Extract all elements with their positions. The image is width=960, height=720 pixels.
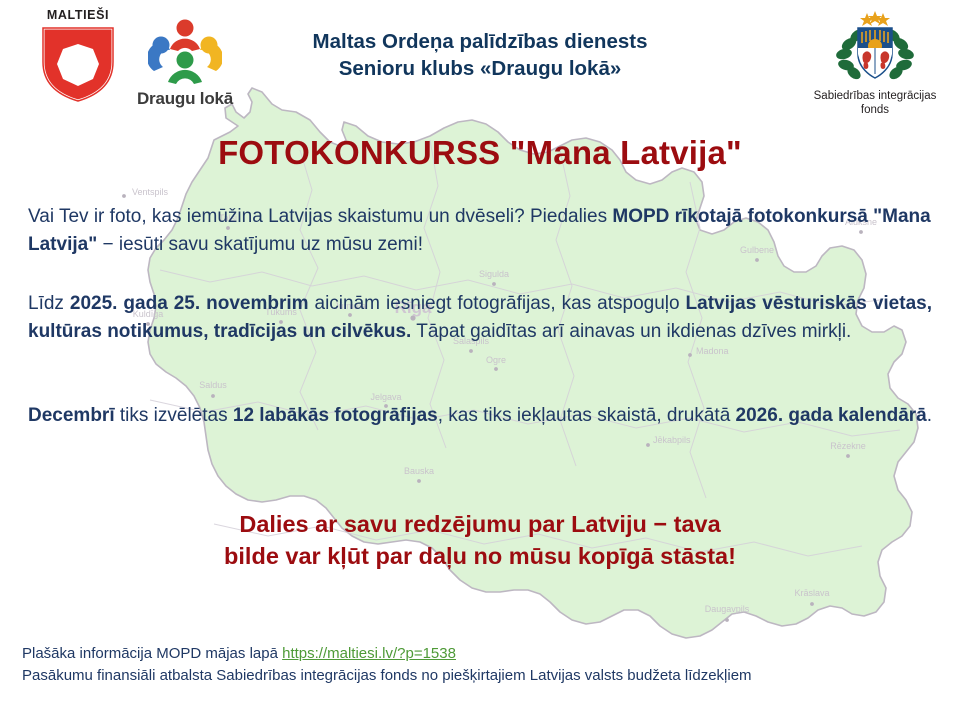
organization-title-line2: Senioru klubs «Draugu lokā» bbox=[250, 55, 710, 82]
maltiesi-wordmark: MALTIEŠI bbox=[26, 8, 130, 22]
draugu-loka-logo: Draugu lokā bbox=[126, 18, 244, 118]
maltese-shield-icon bbox=[39, 24, 117, 104]
draugu-loka-wordmark: Draugu lokā bbox=[126, 89, 244, 108]
friends-circle-icon bbox=[148, 18, 222, 88]
call-to-action-line1: Dalies ar savu redzējumu par Latviju − t… bbox=[0, 508, 960, 540]
paragraph-deadline-seg1: Līdz bbox=[28, 293, 70, 314]
sif-wordmark: Sabiedrības integrācijas fonds bbox=[800, 90, 950, 117]
paragraph-deadline: Līdz 2025. gada 25. novembrim aicinām ie… bbox=[28, 290, 932, 346]
paragraph-deadline-seg2: aicinām iesniegt fotogrāfijas, kas atspo… bbox=[309, 293, 686, 314]
footer-info-prefix: Plašāka informācija MOPD mājas lapā bbox=[22, 645, 282, 662]
footer-line-info: Plašāka informācija MOPD mājas lapā http… bbox=[22, 643, 942, 665]
paragraph-deadline-seg3: Tāpat gaidītas arī ainavas un ikdienas d… bbox=[411, 321, 851, 342]
paragraph-calendar-bold2: 12 labākās fotogrāfijas bbox=[233, 405, 438, 426]
latvia-coat-of-arms-icon bbox=[827, 10, 923, 88]
organization-title: Maltas Ordeņa palīdzības dienests Senior… bbox=[250, 28, 710, 82]
paragraph-deadline-bold1: 2025. gada 25. novembrim bbox=[70, 293, 309, 314]
poster-header: MALTIEŠI bbox=[0, 0, 960, 132]
call-to-action: Dalies ar savu redzējumu par Latviju − t… bbox=[0, 508, 960, 572]
poster-footer: Plašāka informācija MOPD mājas lapā http… bbox=[22, 643, 942, 687]
paragraph-intro-seg2: − iesūti savu skatījumu uz mūsu zemi! bbox=[97, 234, 423, 255]
call-to-action-line2: bilde var kļūt par daļu no mūsu kopīgā s… bbox=[0, 540, 960, 572]
paragraph-intro-seg1: Vai Tev ir foto, kas iemūžina Latvijas s… bbox=[28, 206, 612, 227]
paragraph-calendar-seg1: tiks izvēlētas bbox=[115, 405, 233, 426]
mopd-website-link[interactable]: https://maltiesi.lv/?p=1538 bbox=[282, 645, 456, 662]
poster-content: MALTIEŠI bbox=[0, 0, 960, 720]
paragraph-intro: Vai Tev ir foto, kas iemūžina Latvijas s… bbox=[28, 203, 932, 259]
paragraph-calendar: Decembrī tiks izvēlētas 12 labākās fotog… bbox=[28, 402, 932, 430]
paragraph-calendar-bold1: Decembrī bbox=[28, 405, 115, 426]
poster-canvas: VentspilsTalsiKuldīgaSaldusTukumsJūrmala… bbox=[0, 0, 960, 720]
organization-title-line1: Maltas Ordeņa palīdzības dienests bbox=[250, 28, 710, 55]
maltiesi-logo: MALTIEŠI bbox=[26, 8, 130, 106]
paragraph-calendar-bold3: 2026. gada kalendārā bbox=[736, 405, 927, 426]
paragraph-calendar-seg3: . bbox=[927, 405, 932, 426]
sif-logo: Sabiedrības integrācijas fonds bbox=[800, 10, 950, 130]
footer-funding-note: Pasākumu finansiāli atbalsta Sabiedrības… bbox=[22, 665, 942, 687]
page-title: FOTOKONKURSS "Mana Latvija" bbox=[0, 134, 960, 172]
paragraph-calendar-seg2: , kas tiks iekļautas skaistā, drukātā bbox=[438, 405, 736, 426]
sif-wordmark-line1: Sabiedrības integrācijas bbox=[800, 90, 950, 104]
sif-wordmark-line2: fonds bbox=[800, 104, 950, 118]
